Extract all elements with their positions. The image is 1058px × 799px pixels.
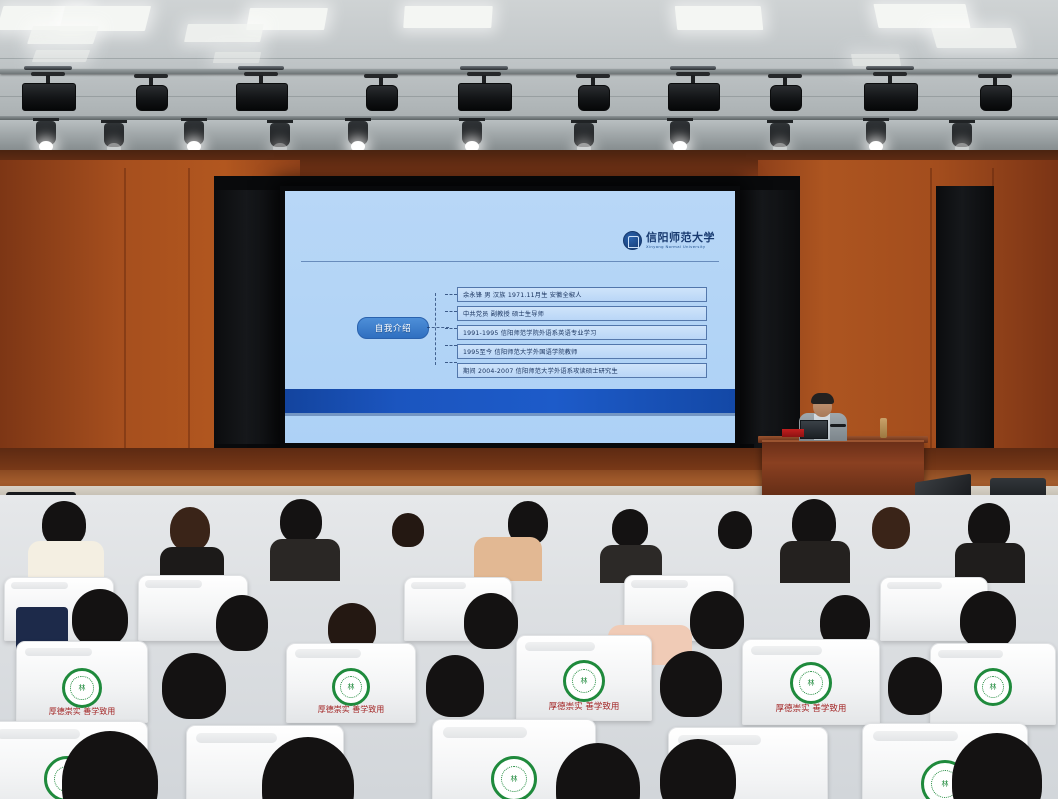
audience-head — [464, 593, 518, 649]
seat-with-cover: 林 厚德崇实 善学致用 — [516, 635, 652, 721]
crest-glyph: 林 — [799, 671, 823, 695]
laptop-icon — [800, 420, 828, 439]
audience-head — [216, 595, 268, 651]
university-name-en: Xinyang Normal University — [646, 245, 715, 249]
bullet-row: 1995至今 信阳师范大学外国语学院教师 — [457, 344, 707, 359]
row-tick — [445, 294, 457, 295]
chair-cover-fold — [196, 733, 277, 743]
chair-cover-fold — [873, 731, 958, 742]
audience-head — [792, 499, 836, 547]
chair-cover-fold — [145, 580, 201, 587]
ceiling-panel-light — [931, 28, 1017, 48]
chair-cover-fold — [887, 582, 942, 589]
ceiling-panel-light — [27, 26, 99, 44]
ceiling-panel-light — [32, 50, 90, 62]
audience-head — [718, 511, 752, 549]
crest-glyph: 林 — [70, 676, 93, 699]
section-badge: 自我介绍 — [357, 317, 429, 339]
slide-accent-band-shadow — [285, 413, 735, 416]
ceiling-panel-light — [184, 24, 264, 42]
lecture-hall-photo: 信阳师范大学 Xinyang Normal University 自我介绍 余永… — [0, 0, 1058, 799]
chair-cover-fold — [11, 582, 67, 589]
audience-head — [392, 513, 424, 547]
ceiling-panel-light — [213, 52, 261, 63]
self-intro-diagram: 自我介绍 余永锋 男 汉族 1971.11月生 安徽全椒人 中共党员 副教授 硕… — [357, 287, 717, 375]
row-tick — [445, 362, 457, 363]
presentation-slide: 信阳师范大学 Xinyang Normal University 自我介绍 余永… — [285, 191, 735, 443]
seat-with-cover: 林 厚德崇实 善学致用 — [742, 639, 880, 725]
ceiling-panel-light — [675, 6, 764, 30]
audience-head — [612, 509, 648, 547]
microphone-icon — [830, 424, 846, 427]
crest-glyph: 林 — [340, 676, 362, 698]
chair-motto: 厚德崇实 善学致用 — [776, 702, 847, 714]
red-desk-item — [782, 429, 804, 437]
school-crest-icon: 林 — [790, 662, 832, 704]
chair-cover-fold — [295, 649, 362, 658]
school-crest-icon: 林 — [62, 668, 102, 708]
university-logo: 信阳师范大学 Xinyang Normal University — [623, 231, 715, 250]
school-crest-icon: 林 — [491, 756, 537, 799]
seat-with-cover: 林 — [930, 643, 1056, 725]
bullet-row: 1991-1995 信阳师范学院外语系英语专业学习 — [457, 325, 707, 340]
audience-head — [960, 591, 1016, 649]
chair-motto: 厚德崇实 善学致用 — [318, 704, 385, 715]
school-crest-icon: 林 — [974, 668, 1012, 706]
audience-torso — [474, 537, 542, 581]
audience-torso — [270, 539, 340, 581]
chair-cover-fold — [938, 650, 1002, 659]
stage-curtain-far-right — [936, 186, 994, 486]
seat-with-cover: 林 厚德崇实 善学致用 — [16, 641, 148, 723]
school-crest-icon: 林 — [332, 668, 370, 706]
seat-with-cover: 林 厚德崇实 善学致用 — [286, 643, 416, 723]
bullet-row: 期间 2004-2007 信阳师范大学外语系攻读硕士研究生 — [457, 363, 707, 378]
chair-cover-fold — [0, 729, 80, 740]
university-name-cn: 信阳师范大学 — [646, 232, 715, 243]
audience-head — [690, 591, 744, 649]
chair-cover-fold — [443, 727, 527, 738]
audience-head — [280, 499, 322, 543]
crest-glyph: 林 — [982, 676, 1004, 698]
ceiling-panel-light — [851, 54, 901, 66]
row-tick — [445, 311, 457, 312]
audience-torso — [780, 541, 850, 583]
chair-cover-fold — [751, 646, 822, 655]
row-tick — [445, 345, 457, 346]
chair-motto: 厚德崇实 善学致用 — [549, 700, 620, 712]
audience-head — [872, 507, 910, 549]
podium — [762, 440, 924, 502]
audience-head — [170, 507, 210, 551]
slide-divider-rule — [301, 261, 719, 262]
school-crest-icon: 林 — [563, 660, 605, 702]
ceiling-panel-light — [403, 6, 493, 28]
audience-torso — [28, 541, 104, 581]
slide-accent-band — [285, 389, 735, 413]
chair-cover-fold — [631, 580, 687, 587]
audience-head — [660, 651, 722, 717]
row-tick — [445, 328, 457, 329]
chair-motto: 厚德崇实 善学致用 — [49, 706, 116, 717]
chair-cover-fold — [525, 642, 595, 651]
ceiling-panel-light — [873, 4, 970, 28]
speaker-hair — [811, 393, 834, 404]
diagram-bracket — [435, 293, 446, 365]
bullet-row-list: 余永锋 男 汉族 1971.11月生 安徽全椒人 中共党员 副教授 硕士生导师 … — [457, 287, 707, 382]
bullet-row: 中共党员 副教授 硕士生导师 — [457, 306, 707, 321]
bullet-row: 余永锋 男 汉族 1971.11月生 安徽全椒人 — [457, 287, 707, 302]
audience-head — [72, 589, 128, 647]
audience-head — [888, 657, 942, 715]
audience-area: 林 厚德崇实 善学致用 林 厚德崇实 善学致用 林 厚德崇实 善学致用 林 厚德… — [0, 495, 1058, 799]
university-crest-icon — [623, 231, 642, 250]
chair-cover-fold — [25, 648, 93, 657]
audience-head — [162, 653, 226, 719]
crest-glyph: 林 — [572, 669, 596, 693]
audience-head — [426, 655, 484, 717]
water-bottle-icon — [880, 418, 887, 438]
chair-cover-fold — [411, 582, 466, 589]
crest-glyph: 林 — [501, 766, 528, 793]
